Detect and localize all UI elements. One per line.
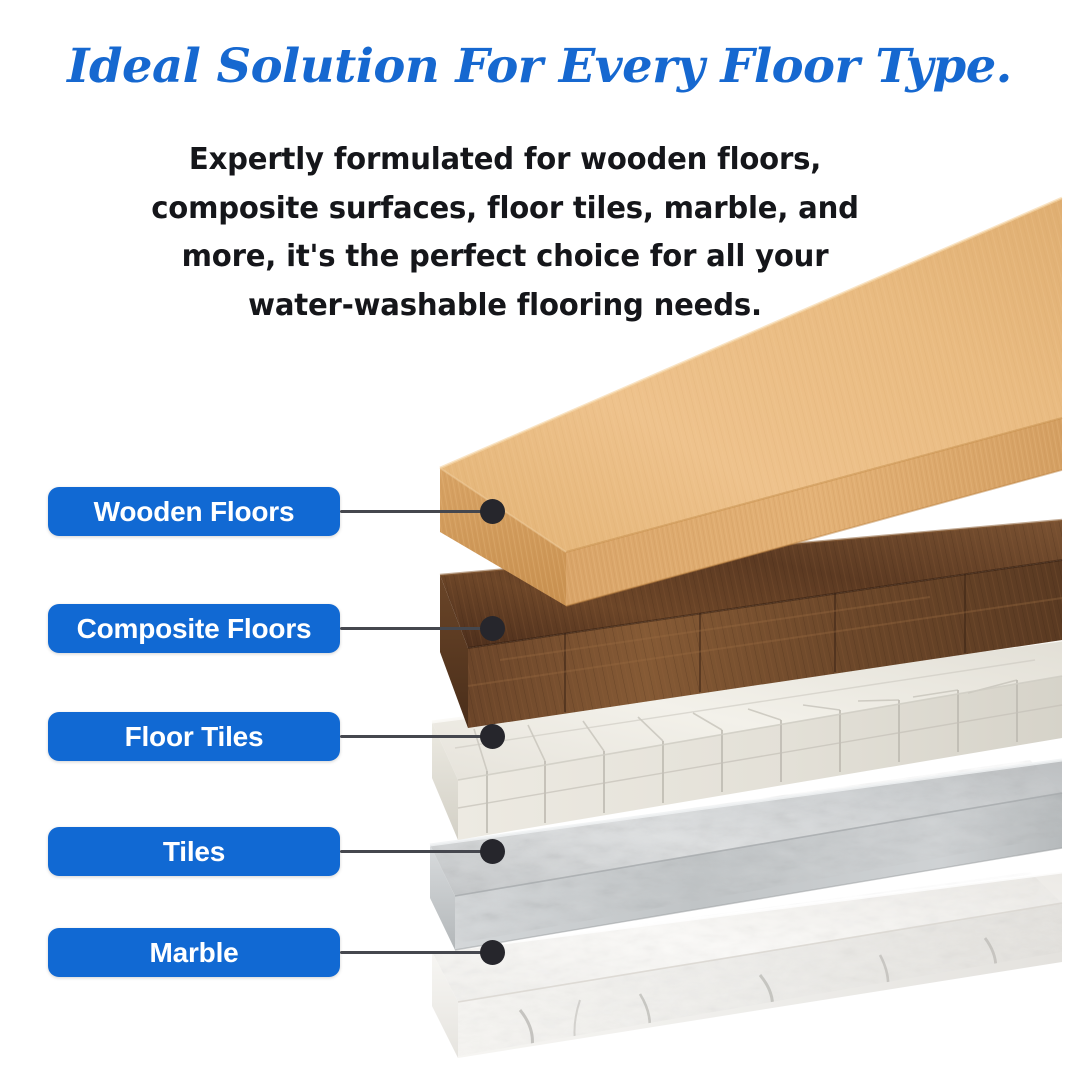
leader-line-marble: [340, 951, 492, 954]
leader-dot-floor-tiles: [480, 724, 505, 749]
leader-line-composite-floors: [340, 627, 492, 630]
callout-chip-wooden-floors[interactable]: Wooden Floors: [48, 487, 340, 536]
infographic-canvas: Ideal Solution For Every Floor Type. Exp…: [0, 0, 1079, 1079]
callout-chip-composite-floors[interactable]: Composite Floors: [48, 604, 340, 653]
leader-line-tiles: [340, 850, 492, 853]
callout-chip-marble[interactable]: Marble: [48, 928, 340, 977]
leader-line-floor-tiles: [340, 735, 492, 738]
leader-dot-wooden-floors: [480, 499, 505, 524]
leader-dot-composite-floors: [480, 616, 505, 641]
callout-chip-floor-tiles[interactable]: Floor Tiles: [48, 712, 340, 761]
leader-line-wooden-floors: [340, 510, 492, 513]
callout-group: Wooden Floors Composite Floors Floor Til…: [0, 0, 1079, 1079]
leader-dot-tiles: [480, 839, 505, 864]
leader-dot-marble: [480, 940, 505, 965]
callout-chip-tiles[interactable]: Tiles: [48, 827, 340, 876]
